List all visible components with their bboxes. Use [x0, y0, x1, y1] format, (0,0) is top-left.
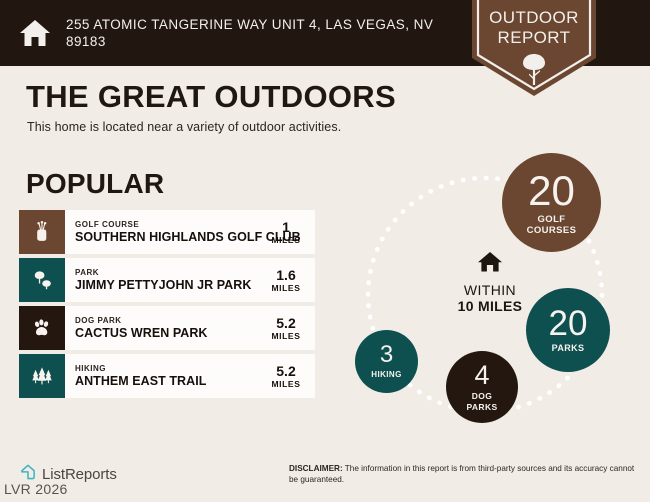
bubble-label-2: COURSES: [527, 225, 577, 236]
bubble-value: 20: [528, 170, 575, 212]
distance-value: 1.6: [276, 268, 295, 283]
bubble-value: 4: [474, 362, 489, 389]
bubble-label: HIKING: [371, 369, 401, 380]
bubble-label: GOLF: [538, 214, 566, 225]
home-icon: [18, 16, 52, 50]
park-tree-icon: [19, 258, 65, 302]
distance-unit: MILES: [272, 283, 301, 293]
list-item-category: DOG PARK: [75, 316, 259, 326]
bubble-value: 20: [549, 306, 588, 341]
list-item-name: JIMMY PETTYJOHN JR PARK: [75, 278, 259, 292]
outdoor-bubble-chart: 20 GOLF COURSES 20 PARKS 4 DOG PARKS 3 H…: [330, 145, 650, 445]
disclaimer-label: DISCLAIMER:: [289, 464, 343, 473]
list-item-distance: 5.2 MILES: [263, 354, 315, 398]
bubble-hiking[interactable]: 3 HIKING: [355, 330, 418, 393]
outdoor-report-badge: OUTDOOR REPORT: [466, 0, 602, 100]
bubble-label: DOG: [472, 391, 493, 402]
home-icon: [477, 261, 503, 278]
pine-trees-icon: [19, 354, 65, 398]
center-label-line2: 10 MILES: [442, 298, 538, 314]
list-item-category: HIKING: [75, 364, 259, 374]
page-subtitle: This home is located near a variety of o…: [27, 120, 341, 134]
bubble-dog-parks[interactable]: 4 DOG PARKS: [446, 351, 518, 423]
distance-value: 1: [282, 220, 290, 235]
center-label-line1: WITHIN: [442, 282, 538, 298]
list-item[interactable]: PARK JIMMY PETTYJOHN JR PARK 1.6 MILES: [19, 258, 315, 302]
badge-text: OUTDOOR REPORT: [466, 8, 602, 48]
bubble-parks[interactable]: 20 PARKS: [526, 288, 610, 372]
list-item[interactable]: HIKING ANTHEM EAST TRAIL 5.2 MILES: [19, 354, 315, 398]
paw-print-icon: [19, 306, 65, 350]
popular-heading: POPULAR: [26, 168, 164, 200]
list-item-name: ANTHEM EAST TRAIL: [75, 374, 259, 388]
golf-bag-icon: [19, 210, 65, 254]
disclaimer: DISCLAIMER: The information in this repo…: [289, 463, 641, 485]
bubble-label-2: PARKS: [466, 402, 497, 413]
distance-unit: MILES: [272, 331, 301, 341]
list-item-distance: 1.6 MILES: [263, 258, 315, 302]
page-title: THE GREAT OUTDOORS: [26, 79, 396, 115]
list-item-distance: 1 MILES: [263, 210, 315, 254]
distance-value: 5.2: [276, 316, 295, 331]
popular-list: GOLF COURSE SOUTHERN HIGHLANDS GOLF CLUB…: [19, 210, 315, 402]
list-item-category: GOLF COURSE: [75, 220, 259, 230]
outdoor-report-page: 255 ATOMIC TANGERINE WAY UNIT 4, LAS VEG…: [0, 0, 650, 502]
center-marker: WITHIN 10 MILES: [442, 250, 538, 314]
distance-unit: MILES: [272, 235, 301, 245]
list-item[interactable]: DOG PARK CACTUS WREN PARK 5.2 MILES: [19, 306, 315, 350]
lvr-label: LVR 2026: [4, 481, 68, 497]
list-item[interactable]: GOLF COURSE SOUTHERN HIGHLANDS GOLF CLUB…: [19, 210, 315, 254]
bubble-label: PARKS: [552, 343, 585, 354]
bubble-value: 3: [380, 343, 393, 367]
list-item-distance: 5.2 MILES: [263, 306, 315, 350]
property-address: 255 ATOMIC TANGERINE WAY UNIT 4, LAS VEG…: [66, 16, 466, 50]
list-item-category: PARK: [75, 268, 259, 278]
distance-unit: MILES: [272, 379, 301, 389]
bubble-golf-courses[interactable]: 20 GOLF COURSES: [502, 153, 601, 252]
badge-line-1: OUTDOOR: [466, 8, 602, 28]
list-item-name: CACTUS WREN PARK: [75, 326, 259, 340]
badge-line-2: REPORT: [466, 28, 602, 48]
list-item-name: SOUTHERN HIGHLANDS GOLF CLUB: [75, 230, 259, 244]
distance-value: 5.2: [276, 364, 295, 379]
